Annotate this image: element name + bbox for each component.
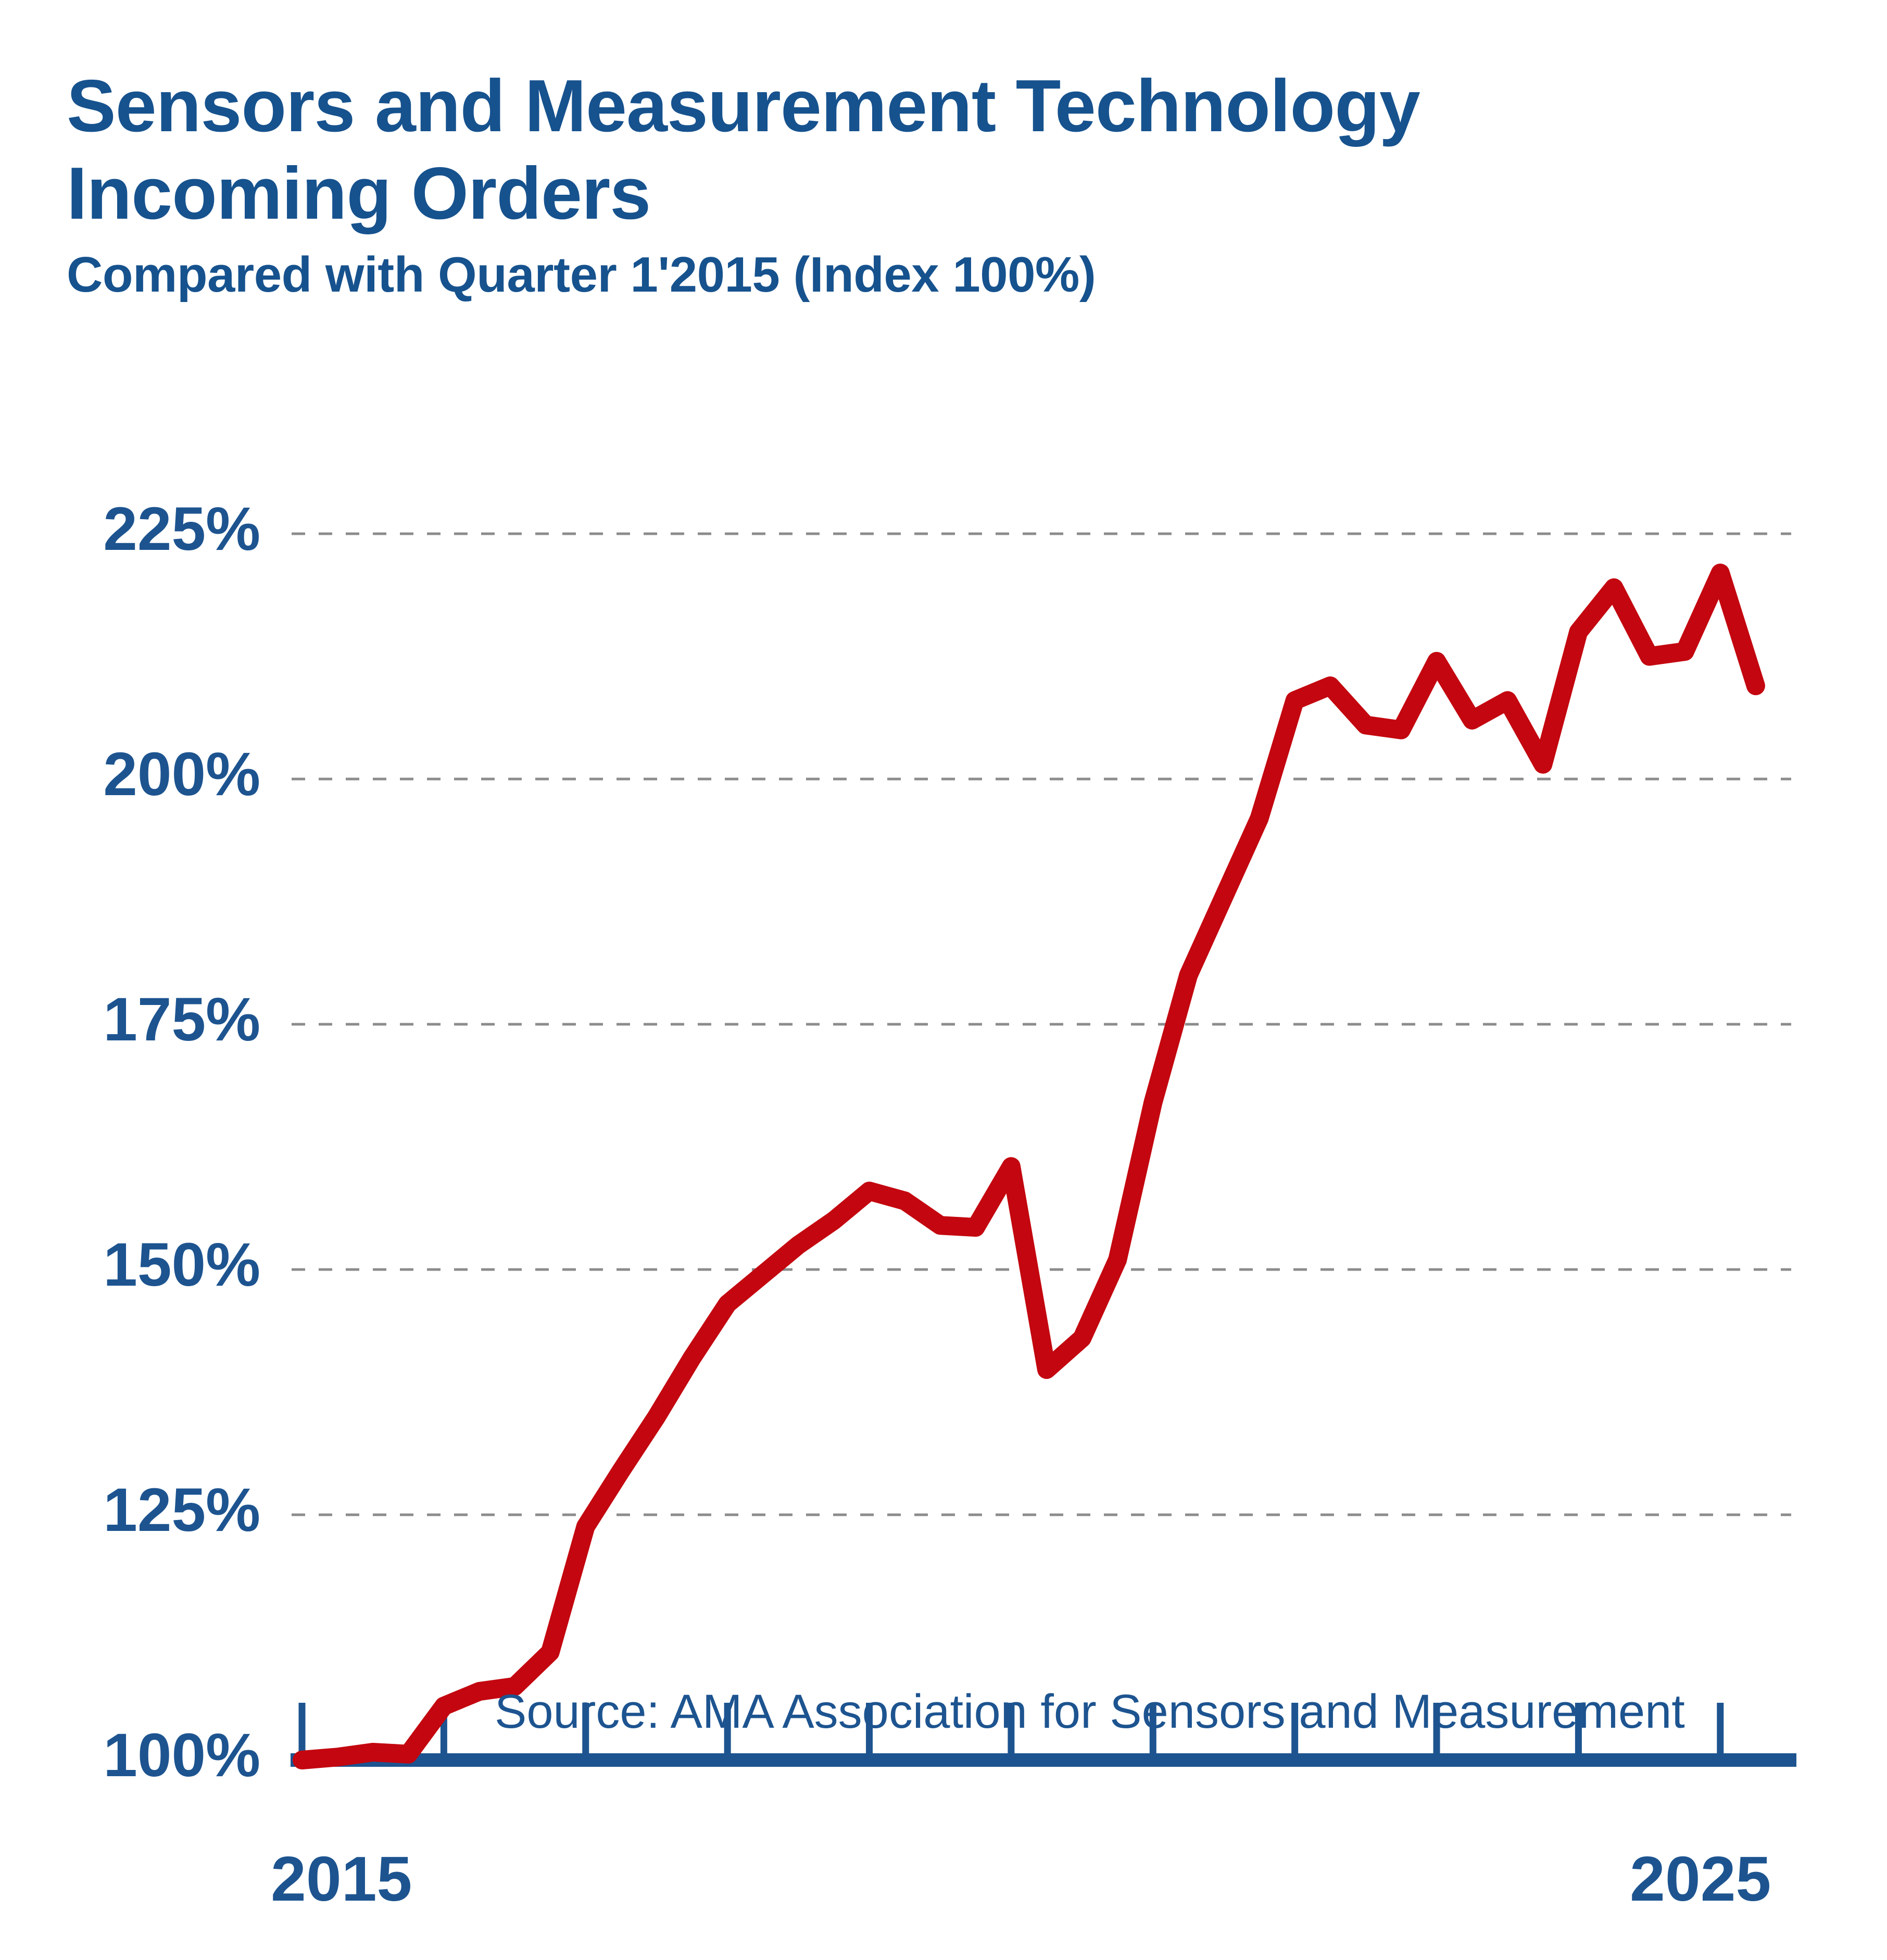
series-line-incoming-orders bbox=[302, 573, 1756, 1760]
chart-page: Sensors and Measurement Technology Incom… bbox=[0, 0, 1887, 1960]
plot-area: 100%125%150%175%200%225% Source: AMA Ass… bbox=[0, 0, 1887, 1960]
y-axis-tick-label: 200% bbox=[103, 740, 260, 809]
source-label: Source: AMA Association for Sensors and … bbox=[495, 1685, 1685, 1738]
y-axis-tick-label: 100% bbox=[103, 1721, 260, 1790]
y-axis-tick-label: 225% bbox=[103, 495, 260, 563]
x-axis-label-left: 2015 bbox=[271, 1843, 412, 1914]
y-axis-tick-label: 150% bbox=[103, 1230, 260, 1299]
y-axis-tick-labels: 100%125%150%175%200%225% bbox=[103, 495, 260, 1790]
y-axis-tick-label: 125% bbox=[103, 1476, 260, 1544]
y-axis-tick-label: 175% bbox=[103, 985, 260, 1054]
x-axis-label-right: 2025 bbox=[1630, 1843, 1771, 1914]
line-chart: 100%125%150%175%200%225% Source: AMA Ass… bbox=[0, 0, 1887, 1960]
